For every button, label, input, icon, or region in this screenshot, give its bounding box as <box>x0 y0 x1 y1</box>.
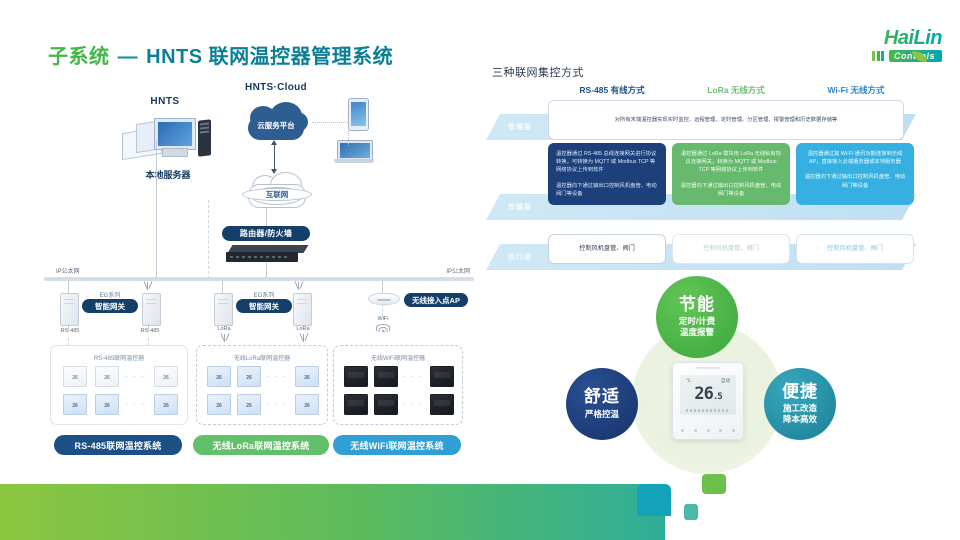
thermostat-temperature: 26.5 <box>680 384 736 404</box>
benefit-comfort-title: 舒适 <box>584 388 620 406</box>
footer-gradient-bar <box>0 484 960 540</box>
method-wifi-p2: 温控器向下通过输出口控制风机盘管、电动阀门等设备 <box>804 173 906 189</box>
control-methods-panel: 三种联网集控方式 RS-485 有线方式 LoRa 无线方式 Wi-Fi 无线方… <box>486 58 948 288</box>
hnts-label: HNTS <box>130 96 200 107</box>
method-wifi-p1: 温控器通过其 Wi-Fi 通讯功能连接到无线 AP，直接接入云端服务器或本地服务… <box>804 150 906 166</box>
thermostat-buttons[interactable] <box>681 429 735 432</box>
thermostat <box>207 366 231 387</box>
gateway-1-badge: 智能网关 <box>82 299 138 313</box>
band-label-management: 管理层 <box>508 122 532 132</box>
band-label-transmission: 传输层 <box>508 202 532 212</box>
benefit-circle-energy: 节能 定时/计费 温度报警 <box>656 276 738 358</box>
workstation-icon <box>122 116 214 164</box>
thermostat <box>154 366 178 387</box>
page-title: 子系统 — HNTS 联网温控器管理系统 <box>48 40 393 69</box>
dashed-drop-a <box>208 200 210 279</box>
benefit-energy-line1: 定时/计费 <box>679 316 715 327</box>
control-methods-title: 三种联网集控方式 <box>492 64 584 80</box>
lora-signal-icon-2 <box>298 333 310 342</box>
benefit-convenience-line2: 降本高效 <box>783 414 817 425</box>
benefit-convenience-line1: 施工改造 <box>783 403 817 414</box>
ip-backbone-bus <box>44 277 474 281</box>
thermostat <box>63 366 87 387</box>
network-topology-diagram: HNTS 本地服务器 HNTS·Cloud 云服务平台 互联网 路由器/防火墙 … <box>30 80 480 455</box>
band-label-execution: 执行层 <box>508 252 532 262</box>
tablet-laptop-link <box>348 122 350 146</box>
method-lora-p1: 温控器通过 LoRa 模块用 LoRa 无线私有协议连接网关，转换为 MQTT … <box>680 150 782 175</box>
cloud-platform-icon: 云服务平台 <box>240 102 312 142</box>
ap-drop <box>382 281 383 293</box>
footer-square-teal <box>684 504 698 520</box>
antenna-icon-2 <box>293 281 305 290</box>
thermostat <box>154 394 178 415</box>
gateway-2-series: EG系列 <box>236 290 292 299</box>
gateway-device-1 <box>60 293 79 326</box>
thermostat <box>374 366 398 387</box>
gateway-2-badge: 智能网关 <box>236 299 292 313</box>
column-head-wifi: Wi-Fi 无线方式 <box>796 84 916 96</box>
group-lora: 无线LoRa联网温控器 · · · · · · <box>196 345 328 425</box>
group-wifi-title: 无线WiFi联网温控器 <box>334 353 462 362</box>
benefit-circle-convenience: 便捷 施工改造 降本高效 <box>764 368 836 440</box>
ellipsis: · · · <box>267 401 287 409</box>
pill-wifi-system: 无线WiFi联网温控系统 <box>333 435 461 455</box>
group-wifi: 无线WiFi联网温控器 · · · · · · <box>333 345 463 425</box>
benefit-convenience-title: 便捷 <box>782 383 818 401</box>
benefit-energy-title: 节能 <box>679 296 715 314</box>
column-head-lora: LoRa 无线方式 <box>676 84 796 96</box>
lora-signal-icon-1 <box>219 333 231 342</box>
column-head-rs485: RS-485 有线方式 <box>552 84 672 96</box>
wifi-icon <box>376 324 390 333</box>
thermostat-product-image: ℃ 自动 26.5 <box>672 362 744 440</box>
gw3-drop <box>222 281 223 293</box>
page-title-prefix: 子系统 <box>48 46 110 68</box>
cloud-tablet-link <box>312 122 348 123</box>
server-bus-drop <box>156 140 157 279</box>
execution-box-lora: 控制风机盘管、阀门 <box>672 234 790 264</box>
page-title-main: HNTS 联网温控器管理系统 <box>146 46 393 68</box>
group-lora-title: 无线LoRa联网温控器 <box>197 353 327 362</box>
execution-box-rs485: 控制风机盘管、阀门 <box>548 234 666 264</box>
thermostat <box>430 366 454 387</box>
thermostat <box>430 394 454 415</box>
thermostat-screen: ℃ 自动 26.5 <box>680 375 736 415</box>
conn-label-rs485-2: RS-485 <box>133 328 167 335</box>
ap-leg <box>382 304 384 316</box>
group-rs485: RS-485联网温控器 · · · · · · <box>50 345 188 425</box>
local-server-label: 本地服务器 <box>122 168 214 181</box>
execution-box-wifi: 控制风机盘管、阀门 <box>796 234 914 264</box>
router-icon <box>226 245 306 263</box>
ellipsis: · · · <box>403 401 423 409</box>
page-title-dash: — <box>116 46 141 68</box>
ellipsis: · · · <box>125 401 145 409</box>
thermostat <box>63 394 87 415</box>
thermostat <box>295 366 319 387</box>
benefit-comfort-line1: 严格控温 <box>585 409 619 420</box>
conn-label-rs485-1: RS-485 <box>53 328 87 335</box>
footer-notch-shape <box>637 484 671 516</box>
group-rs485-title: RS-485联网温控器 <box>51 353 187 362</box>
logo-wordmark: HaiLin <box>832 28 942 48</box>
cloud-title: HNTS·Cloud <box>228 82 324 93</box>
thermostat <box>237 366 261 387</box>
thermostat <box>237 394 261 415</box>
bidirectional-arrow-icon <box>274 144 275 170</box>
cloud-platform-label: 云服务平台 <box>240 120 312 131</box>
laptop-icon <box>334 140 374 164</box>
thermostat <box>95 366 119 387</box>
thermostat <box>374 394 398 415</box>
ap-badge: 无线接入点AP <box>404 293 468 307</box>
benefit-circle-comfort: 舒适 严格控温 <box>566 368 638 440</box>
internet-label: 互联网 <box>242 188 312 201</box>
thermostat <box>95 394 119 415</box>
gateway-device-3 <box>214 293 233 326</box>
thermostat <box>207 394 231 415</box>
antenna-icon-1 <box>142 281 154 290</box>
cloud-router-drop <box>266 208 267 226</box>
wireless-ap-icon <box>368 293 400 305</box>
ellipsis: · · · <box>267 373 287 381</box>
method-lora-p2: 温控器向下通过输出口控制风机盘管、电动阀门等设备 <box>680 182 782 198</box>
thermostat <box>344 366 368 387</box>
thermostat <box>344 394 368 415</box>
bus-label-left: IP公太网 <box>56 266 80 275</box>
gateway-device-4 <box>293 293 312 326</box>
method-rs485-p1: 温控器通过 RS-485 总线连接网关进行协议转换，可转换为 MQTT 或 Mo… <box>556 150 658 175</box>
gw1-leg <box>68 324 69 330</box>
method-rs485-p2: 温控器向下通过输出口控制风机盘管、电动阀门等设备 <box>556 182 658 198</box>
gw2-leg <box>148 324 149 330</box>
internet-cloud-icon: 互联网 <box>242 172 310 208</box>
thermostat-temp-dec: .5 <box>713 392 722 402</box>
server-tower-icon <box>198 119 211 156</box>
gateway-1-series: EG系列 <box>82 290 138 299</box>
benefit-energy-line2: 温度报警 <box>680 327 714 338</box>
method-box-wifi: 温控器通过其 Wi-Fi 通讯功能连接到无线 AP，直接接入云端服务器或本地服务… <box>796 143 914 205</box>
benefits-diagram: 节能 定时/计费 温度报警 舒适 严格控温 便捷 施工改造 降本高效 ℃ 自动 … <box>556 276 856 486</box>
router-badge: 路由器/防火墙 <box>222 226 310 241</box>
management-description-text: 对所有末端温控器实现实时监控、远程管理、定时管理、分区管理、报警管理和历史数据存… <box>615 116 837 124</box>
gw1-drop <box>68 281 69 293</box>
pill-lora-system: 无线LoRa联网温控系统 <box>193 435 329 455</box>
thermostat-temp-int: 26 <box>694 384 712 404</box>
management-description-box: 对所有末端温控器实现实时监控、远程管理、定时管理、分区管理、报警管理和历史数据存… <box>548 100 904 140</box>
conn-label-wifi: WiFi <box>366 316 400 323</box>
bus-label-right: IP公太网 <box>446 266 470 275</box>
tablet-icon <box>348 98 369 131</box>
ellipsis: · · · <box>403 373 423 381</box>
thermostat <box>295 394 319 415</box>
gateway-device-2 <box>142 293 161 326</box>
footer-square-green <box>702 474 726 494</box>
ellipsis: · · · <box>125 373 145 381</box>
pill-rs485-system: RS-485联网温控系统 <box>54 435 182 455</box>
method-box-rs485: 温控器通过 RS-485 总线连接网关进行协议转换，可转换为 MQTT 或 Mo… <box>548 143 666 205</box>
method-box-lora: 温控器通过 LoRa 模块用 LoRa 无线私有协议连接网关，转换为 MQTT … <box>672 143 790 205</box>
